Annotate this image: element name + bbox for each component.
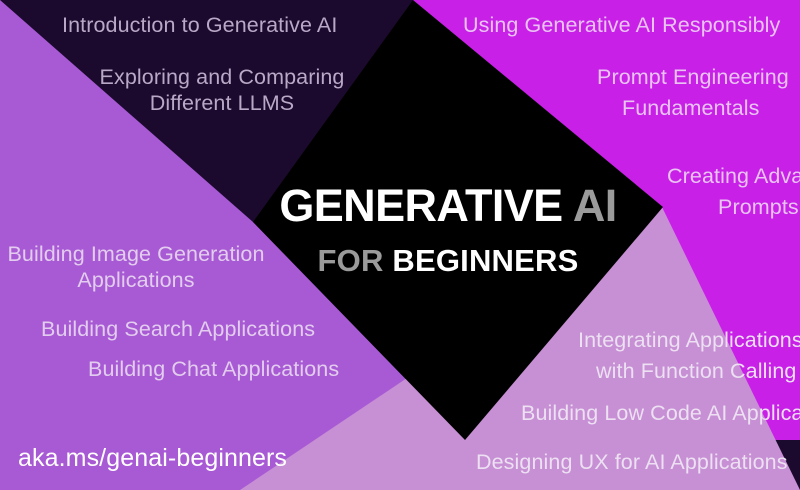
lesson-label-chat-applications: Building Chat Applications: [88, 356, 339, 382]
poster-title-sub: FOR BEGINNERS: [270, 245, 626, 276]
lesson-label-prompt-engineering-line2: Fundamentals: [622, 95, 759, 121]
poster-title-main: GENERATIVE AI: [270, 183, 626, 228]
lesson-label-advanced-prompts-line1: Creating Advanced: [667, 163, 800, 189]
lesson-label-advanced-prompts-line2: Prompts: [718, 194, 799, 220]
lesson-label-exploring-llms: Exploring and Comparing Different LLMS: [96, 64, 348, 116]
poster-title-sub-accent: FOR: [318, 243, 384, 278]
poster-title-sub-primary: BEGINNERS: [392, 243, 578, 278]
poster-title-ai-text: AI: [573, 180, 617, 231]
lesson-label-introduction: Introduction to Generative AI: [62, 12, 337, 38]
poster-title-main-accent: AI: [563, 180, 617, 231]
lesson-label-function-calling-line2: with Function Calling: [596, 358, 796, 384]
lesson-label-responsible-ai: Using Generative AI Responsibly: [463, 12, 780, 38]
lesson-label-image-generation: Building Image Generation Applications: [2, 241, 270, 293]
poster-canvas: Introduction to Generative AI Exploring …: [0, 0, 800, 490]
footer-url-text: aka.ms/genai-beginners: [18, 444, 287, 473]
poster-title-main-primary: GENERATIVE: [279, 180, 562, 231]
lesson-label-search-applications: Building Search Applications: [41, 316, 315, 342]
poster-title-block: GENERATIVE AI FOR BEGINNERS: [270, 183, 626, 276]
lesson-label-function-calling-line1: Integrating Applications: [578, 327, 800, 353]
lesson-label-designing-ux: Designing UX for AI Applications: [476, 449, 788, 475]
lesson-label-low-code: Building Low Code AI Applications: [521, 400, 800, 426]
lesson-label-prompt-engineering-line1: Prompt Engineering: [597, 64, 789, 90]
